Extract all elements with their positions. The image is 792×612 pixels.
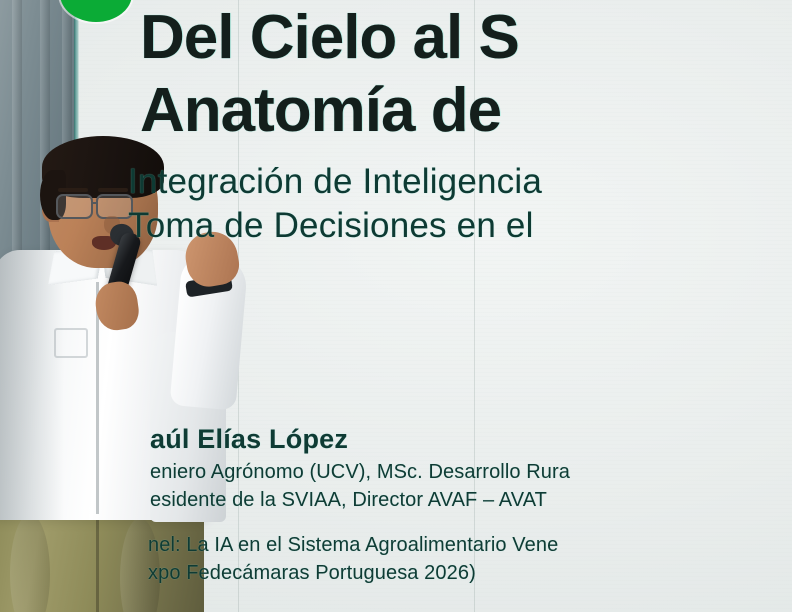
shirt-shading: [0, 250, 64, 520]
eyeglasses-bridge: [92, 202, 98, 204]
eyeglasses-lens-left: [56, 194, 93, 219]
presenter-figure: [0, 132, 300, 612]
pants-seam: [96, 514, 99, 612]
shirt-pocket: [54, 328, 88, 358]
wall-seam: [474, 0, 475, 612]
eyebrow-right: [98, 188, 128, 192]
eyebrow-left: [58, 188, 88, 192]
presentation-screenshot: Del Cielo al S Anatomía de Integración d…: [0, 0, 792, 612]
